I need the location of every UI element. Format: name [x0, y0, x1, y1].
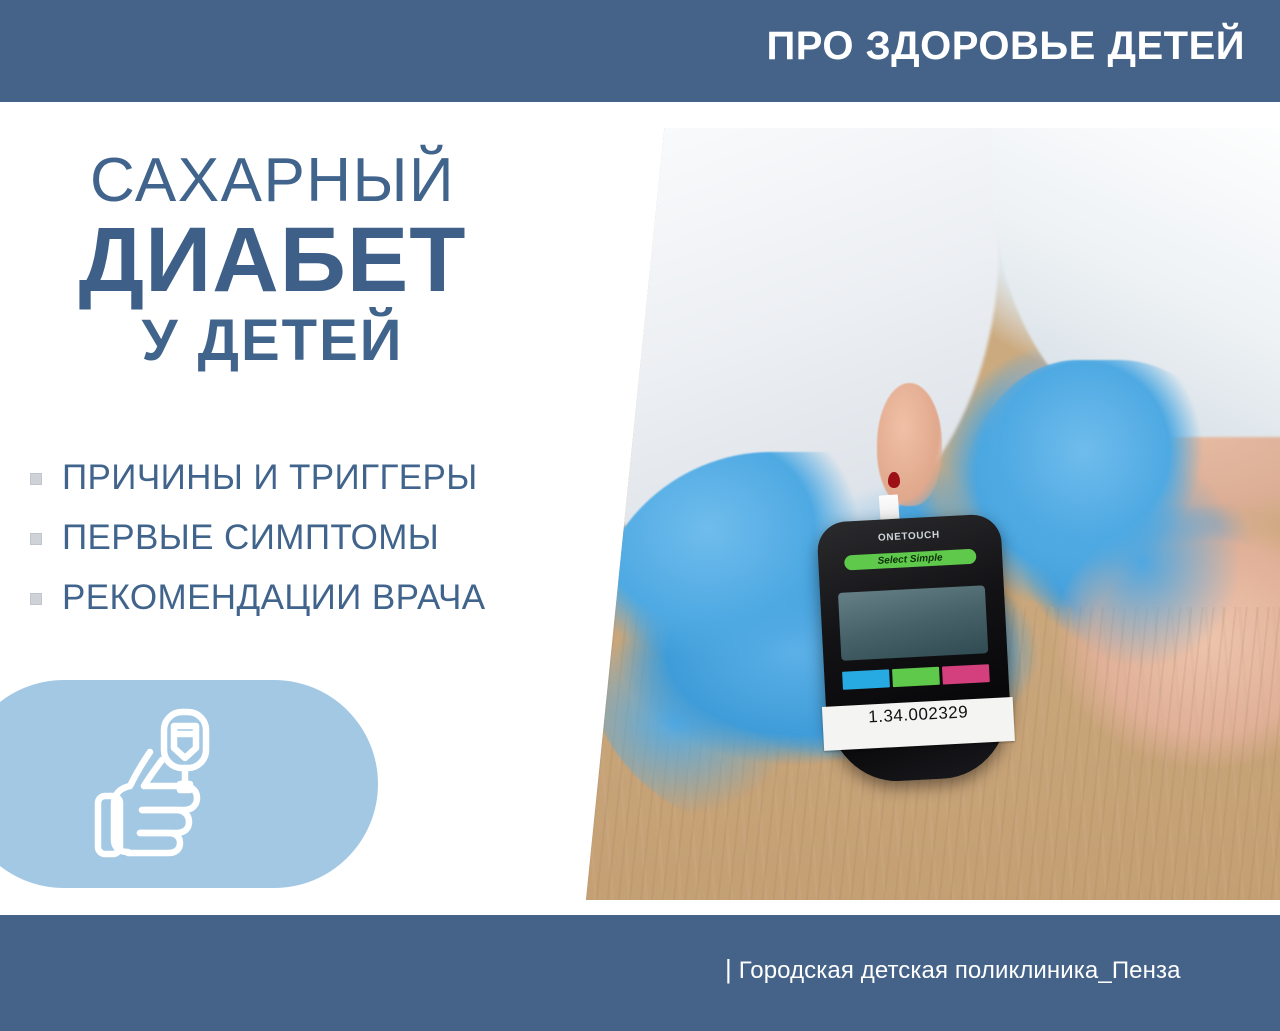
list-item: РЕКОМЕНДАЦИИ ВРАЧА	[30, 575, 590, 619]
vertical-bar-icon: |	[725, 956, 732, 982]
patient-fingertip	[877, 383, 942, 507]
glucometer-device: ONETOUCH Select Simple 1.34.002329	[816, 513, 1013, 785]
list-item: ПРИЧИНЫ И ТРИГГЕРЫ	[30, 455, 590, 499]
bullet-label: РЕКОМЕНДАЦИИ ВРАЧА	[62, 580, 486, 615]
indicator-bar-green	[892, 666, 940, 687]
hand-with-glucometer-icon	[80, 700, 250, 870]
left-content-column: САХАРНЫЙ ДИАБЕТ У ДЕТЕЙ ПРИЧИНЫ И ТРИГГЕ…	[0, 102, 600, 915]
footer-bar: | Городская детская поликлиника_Пенза	[0, 915, 1280, 1031]
poster-root: ПРО ЗДОРОВЬЕ ДЕТЕЙ ONETOUCH Select Simpl…	[0, 0, 1280, 1031]
footer-content: | Городская детская поликлиника_Пенза	[725, 956, 1181, 983]
square-bullet-icon	[30, 533, 42, 545]
glucometer-model-text: Select Simple	[844, 549, 977, 571]
headline-line-2: ДИАБЕТ	[0, 214, 545, 308]
glucometer-brand-text: ONETOUCH	[839, 527, 979, 545]
square-bullet-icon	[30, 473, 42, 485]
headline-block: САХАРНЫЙ ДИАБЕТ У ДЕТЕЙ	[0, 150, 545, 370]
photo-container: ONETOUCH Select Simple 1.34.002329	[560, 128, 1280, 900]
indicator-bar-pink	[942, 664, 990, 685]
photo-glucose-test: ONETOUCH Select Simple 1.34.002329	[560, 128, 1280, 900]
glucometer-screen	[838, 585, 988, 661]
glucometer-indicator-bars	[842, 664, 990, 690]
square-bullet-icon	[30, 593, 42, 605]
page-title: ПРО ЗДОРОВЬЕ ДЕТЕЙ	[766, 24, 1245, 68]
headline-line-3: У ДЕТЕЙ	[0, 312, 545, 370]
indicator-bar-blue	[842, 669, 890, 690]
right-gloved-hand	[963, 360, 1251, 684]
bullet-label: ПЕРВЫЕ СИМПТОМЫ	[62, 520, 439, 555]
clinic-name: Городская детская поликлиника_Пенза	[739, 959, 1181, 983]
bullet-list: ПРИЧИНЫ И ТРИГГЕРЫ ПЕРВЫЕ СИМПТОМЫ РЕКОМ…	[30, 455, 590, 635]
glucometer-asset-label: 1.34.002329	[822, 697, 1015, 752]
header-bar: ПРО ЗДОРОВЬЕ ДЕТЕЙ	[0, 0, 1280, 102]
icon-badge	[0, 680, 378, 888]
list-item: ПЕРВЫЕ СИМПТОМЫ	[30, 515, 590, 559]
bullet-label: ПРИЧИНЫ И ТРИГГЕРЫ	[62, 460, 478, 495]
blood-drop	[888, 472, 900, 488]
headline-line-1: САХАРНЫЙ	[0, 150, 545, 212]
